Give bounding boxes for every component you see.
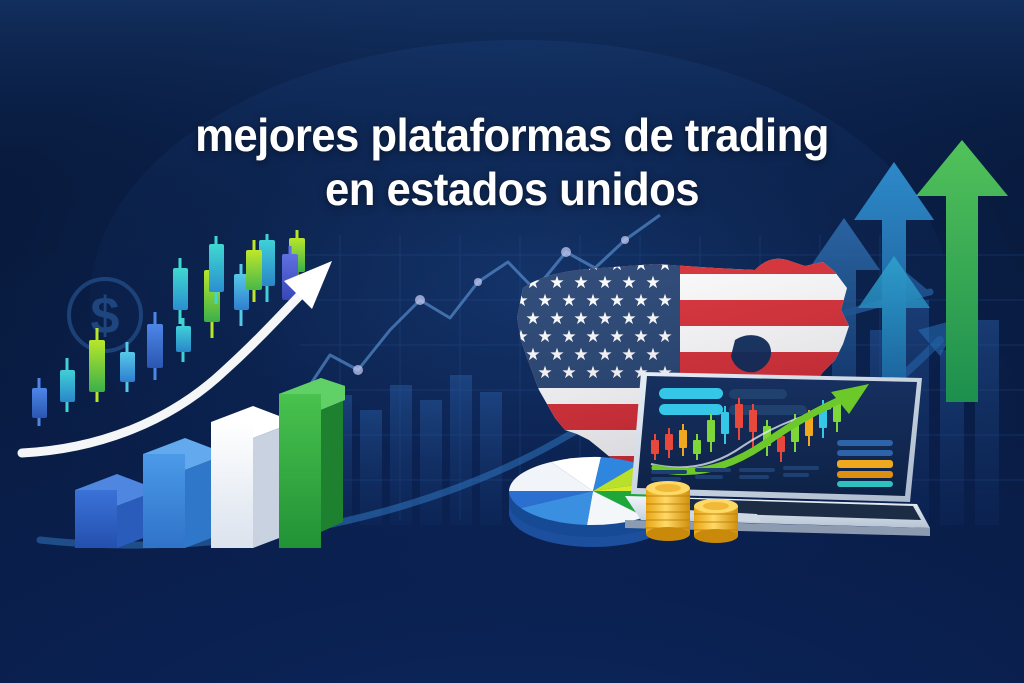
svg-text:★: ★: [513, 255, 528, 275]
svg-text:★: ★: [537, 255, 552, 275]
coin-stack-tall: [646, 481, 690, 541]
screen-pill: [659, 404, 723, 415]
bar-4: [279, 378, 345, 548]
poster-canvas: $: [0, 0, 1024, 683]
coin-stack-short: [694, 499, 738, 543]
screen-pill-muted: [729, 389, 787, 399]
svg-text:★: ★: [513, 363, 528, 383]
gold-coin-stacks: [638, 468, 748, 548]
arrow-up-green: [916, 140, 1008, 402]
screen-pill: [659, 388, 723, 399]
bar-chart-3d: [55, 370, 345, 570]
